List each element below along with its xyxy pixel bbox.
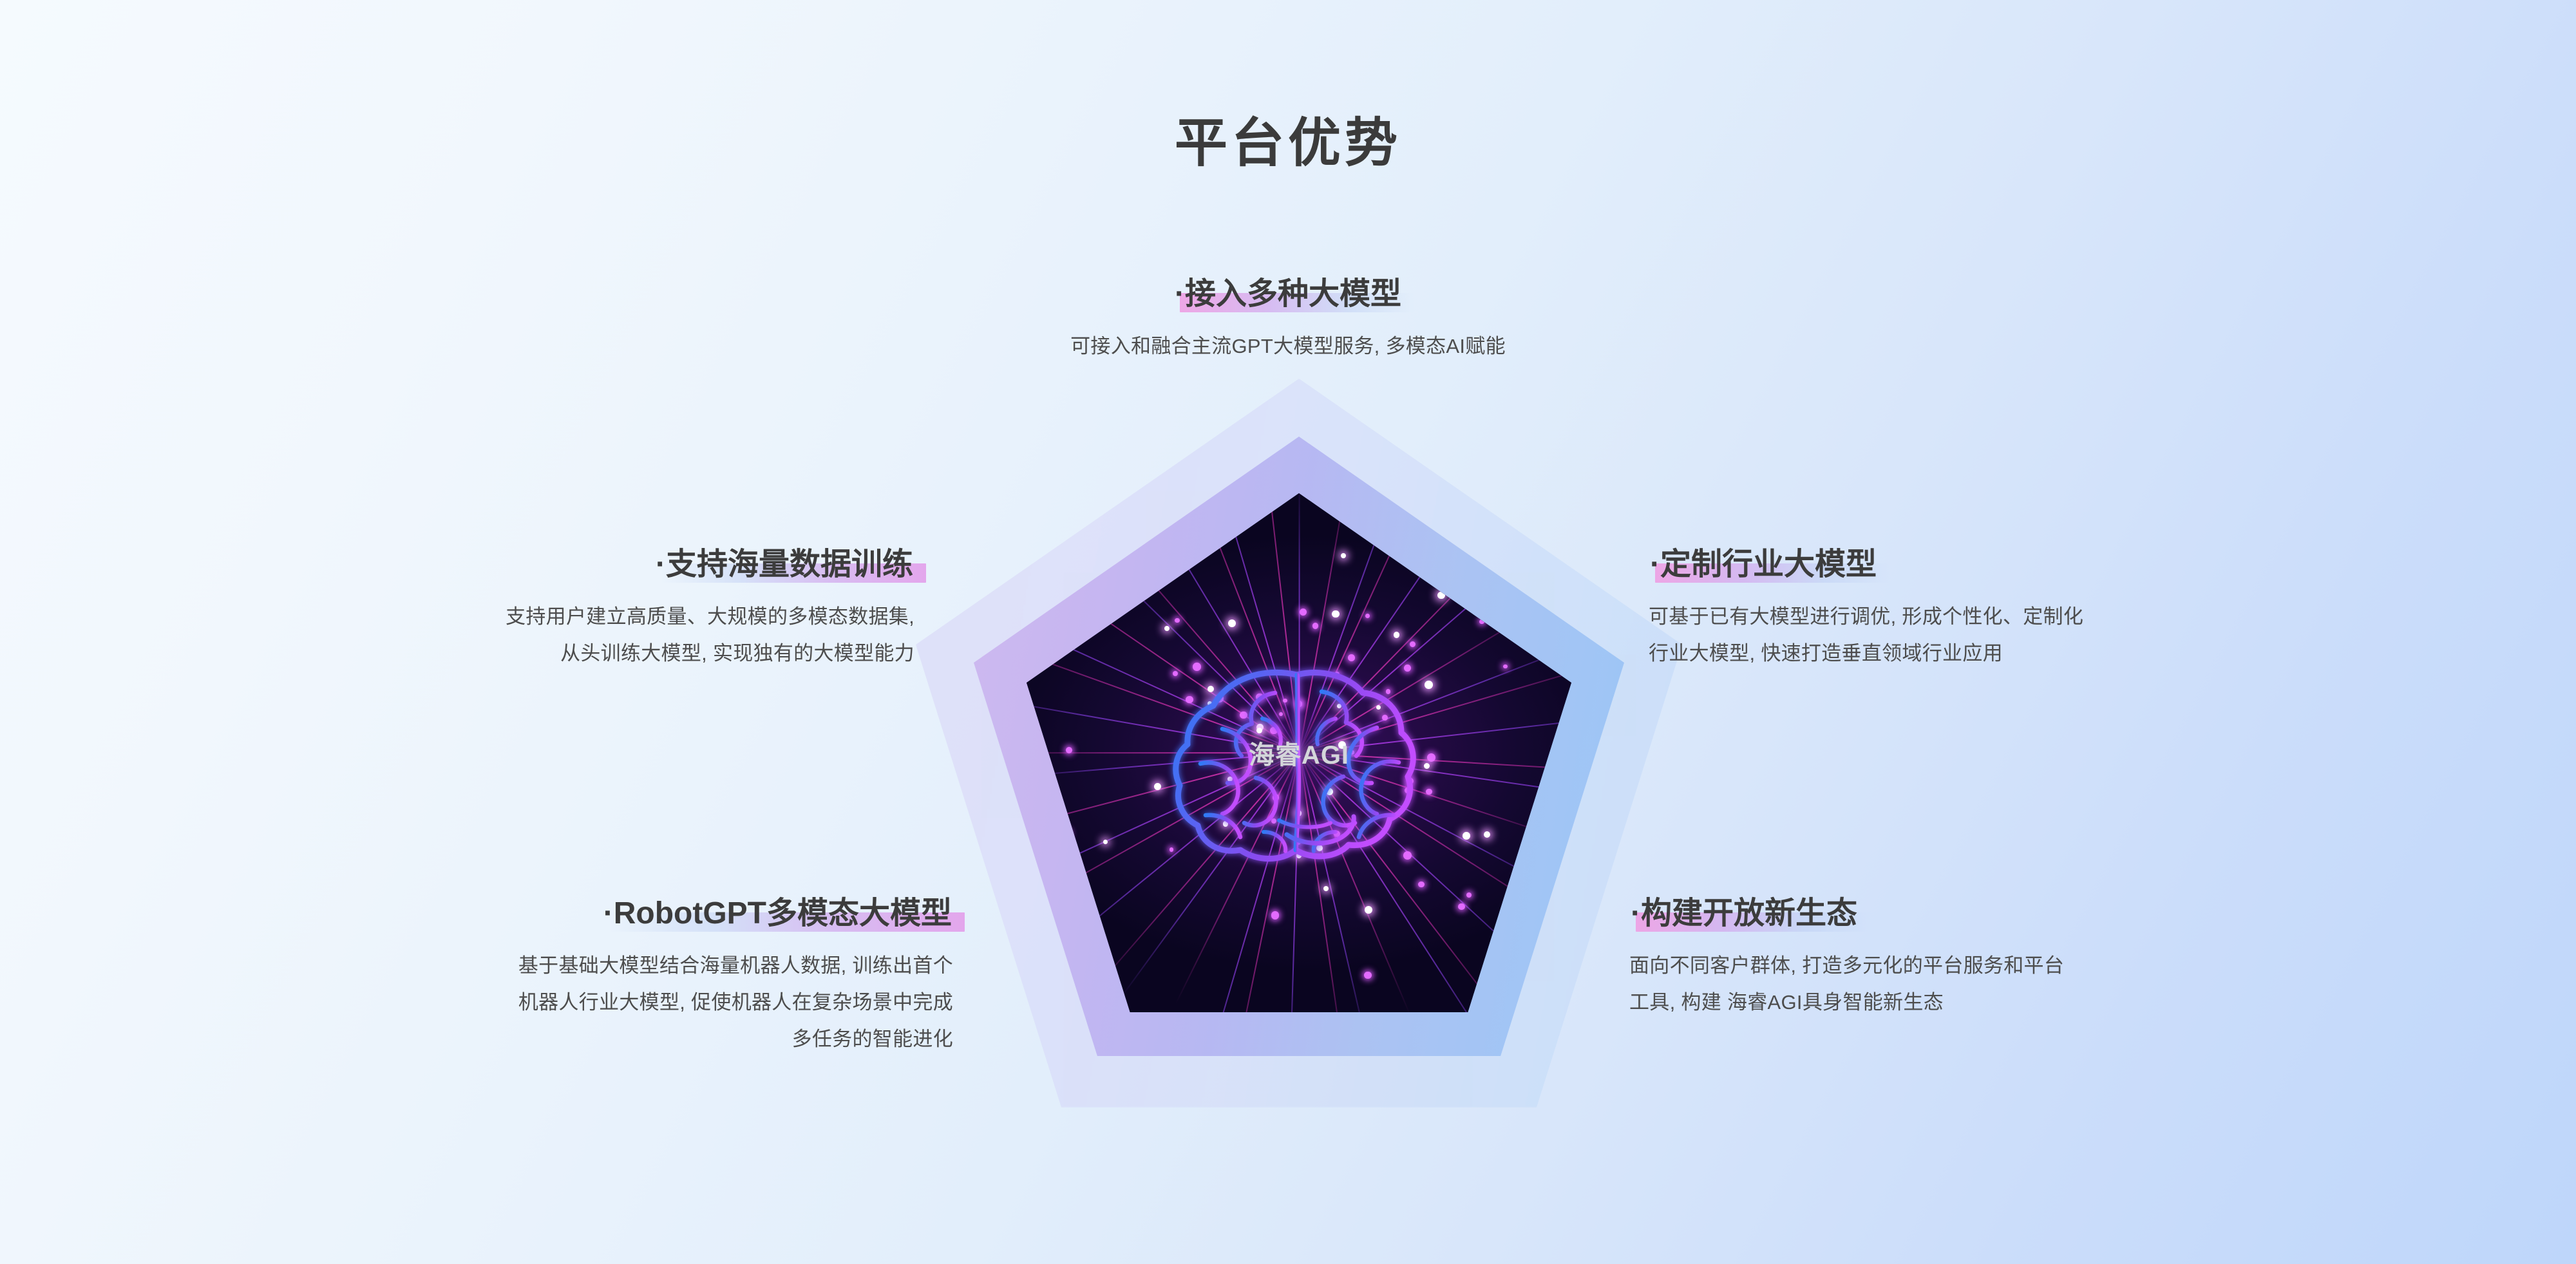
network-node <box>1300 608 1307 616</box>
center-brand-label: 海睿AGI <box>1027 734 1571 771</box>
network-node <box>1418 882 1425 888</box>
heading-text: RobotGPT多模态大模型 <box>614 896 952 930</box>
desc-line: 机器人行业大模型, 促使机器人在复杂场景中完成 <box>116 984 953 1021</box>
page-title: 平台优势 <box>0 117 2576 170</box>
feature-heading-right-bottom: ·构建开放新生态 <box>1629 895 1859 933</box>
network-node <box>1503 665 1507 668</box>
network-node <box>1394 632 1400 638</box>
network-node <box>1364 972 1372 979</box>
heading-text: 支持海量数据训练 <box>666 547 913 581</box>
network-node <box>1484 831 1490 838</box>
network-node <box>1466 892 1472 898</box>
network-node <box>1103 840 1108 844</box>
network-node <box>1312 623 1319 629</box>
feature-heading-top: ·接入多种大模型 <box>1173 276 1403 314</box>
feature-block-right-mid: ·定制行业大模型 可基于已有大模型进行调优, 形成个性化、定制化 行业大模型, … <box>1649 546 2486 672</box>
feature-description-right-mid: 可基于已有大模型进行调优, 形成个性化、定制化 行业大模型, 快速打造垂直领域行… <box>1649 598 2486 672</box>
network-node <box>1463 832 1470 840</box>
heading-text: 构建开放新生态 <box>1641 896 1857 930</box>
slide-canvas: 平台优势 <box>0 0 2576 1264</box>
desc-line: 从头训练大模型, 实现独有的大模型能力 <box>116 635 914 672</box>
central-pentagon-graphic: 海睿AGI <box>896 379 1701 1119</box>
bullet-dot: · <box>603 896 614 930</box>
network-node <box>1365 906 1372 914</box>
bullet-dot: · <box>1175 277 1185 311</box>
feature-block-right-bottom: ·构建开放新生态 面向不同客户群体, 打造多元化的平台服务和平台 工具, 构建 … <box>1629 895 2479 1021</box>
feature-heading-right-mid: ·定制行业大模型 <box>1649 546 1878 584</box>
heading-text: 定制行业大模型 <box>1660 547 1877 581</box>
desc-line: 面向不同客户群体, 打造多元化的平台服务和平台 <box>1629 947 2479 984</box>
feature-description-left-bottom: 基于基础大模型结合海量机器人数据, 训练出首个 机器人行业大模型, 促使机器人在… <box>116 947 953 1058</box>
feature-block-left-bottom: ·RobotGPT多模态大模型 基于基础大模型结合海量机器人数据, 训练出首个 … <box>116 895 953 1058</box>
network-node <box>1175 618 1179 623</box>
network-node <box>1410 641 1416 647</box>
feature-description-right-bottom: 面向不同客户群体, 打造多元化的平台服务和平台 工具, 构建 海睿AGI具身智能… <box>1629 947 2479 1021</box>
feature-heading-left-mid: ·支持海量数据训练 <box>654 546 914 584</box>
feature-heading-left-bottom: ·RobotGPT多模态大模型 <box>602 895 953 933</box>
desc-line: 多任务的智能进化 <box>116 1021 953 1057</box>
network-node <box>1332 610 1339 618</box>
network-node <box>1365 614 1370 618</box>
network-node <box>1458 903 1464 910</box>
bullet-dot: · <box>1650 547 1660 581</box>
desc-line: 可基于已有大模型进行调优, 形成个性化、定制化 <box>1649 598 2486 635</box>
feature-description-left-mid: 支持用户建立高质量、大规模的多模态数据集, 从头训练大模型, 实现独有的大模型能… <box>116 598 914 672</box>
bullet-dot: · <box>1631 896 1641 930</box>
desc-line: 可接入和融合主流GPT大模型服务, 多模态AI赋能 <box>721 328 1855 364</box>
desc-line: 工具, 构建 海睿AGI具身智能新生态 <box>1629 984 2479 1021</box>
heading-text: 接入多种大模型 <box>1185 277 1401 311</box>
feature-block-top: ·接入多种大模型 可接入和融合主流GPT大模型服务, 多模态AI赋能 <box>721 276 1855 364</box>
feature-description-top: 可接入和融合主流GPT大模型服务, 多模态AI赋能 <box>721 328 1855 364</box>
network-node <box>1228 619 1236 627</box>
network-node <box>1341 553 1347 559</box>
network-node <box>1271 911 1279 919</box>
desc-line: 支持用户建立高质量、大规模的多模态数据集, <box>116 598 914 635</box>
feature-block-left-mid: ·支持海量数据训练 支持用户建立高质量、大规模的多模态数据集, 从头训练大模型,… <box>116 546 914 672</box>
bullet-dot: · <box>656 547 666 581</box>
network-node <box>1164 626 1170 631</box>
network-node <box>1323 886 1329 892</box>
desc-line: 基于基础大模型结合海量机器人数据, 训练出首个 <box>116 947 953 984</box>
desc-line: 行业大模型, 快速打造垂直领域行业应用 <box>1649 635 2486 672</box>
